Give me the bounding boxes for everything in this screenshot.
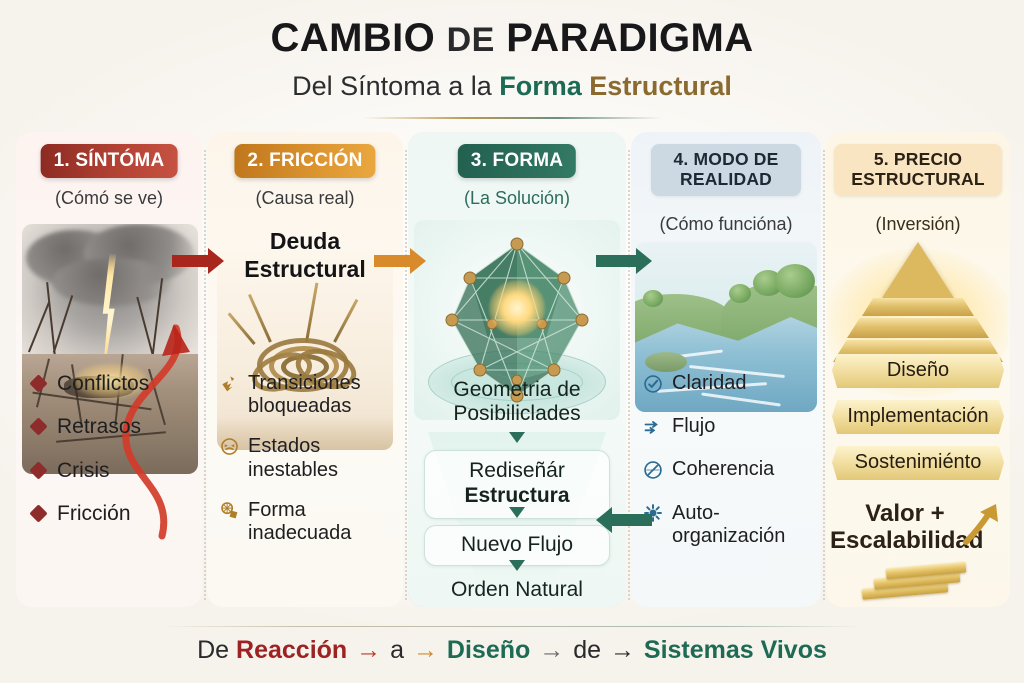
list-item-label: Fricción [57, 502, 131, 526]
river-rock [645, 352, 687, 372]
list-item[interactable]: Crisis [28, 459, 194, 483]
badge-forma[interactable]: 3. FORMA [458, 144, 576, 178]
list-friccion: Transiciones bloqueadas Estados inestabl… [219, 372, 395, 562]
column-sintoma: 1. SÍNTÓMA (Cómó se ve) Conflictos Retra… [16, 132, 202, 607]
list-item-label: Claridad [672, 372, 746, 395]
list-item[interactable]: Auto-organización [643, 502, 813, 548]
subtitle-precio-estructural: (Inversión) [875, 214, 960, 235]
circle-slash-icon [643, 458, 663, 481]
title-part-paradigma: PARADIGMA [506, 16, 753, 60]
chevron-down-icon [509, 507, 525, 518]
subtitle-friccion: (Causa real) [255, 188, 354, 209]
footer-arrow-4: → [608, 636, 637, 664]
title-divider [362, 117, 662, 119]
growth-arrow-icon [960, 500, 1002, 546]
footer-divider [162, 626, 862, 627]
footer-word-de2: de [573, 636, 601, 664]
list-sintoma: Conflictos Retrasos Crisis Fricción [28, 372, 194, 545]
list-item-label: Estados inestables [248, 435, 395, 481]
arrow-forma-to-modo [596, 248, 652, 274]
list-item-label: Retrasos [57, 415, 141, 439]
footer-arrow-3: → [537, 636, 566, 664]
list-item-label: Flujo [672, 415, 715, 438]
subtitle-modo-realidad: (Cómo funcióna) [659, 214, 792, 235]
footer-word-de: De [197, 636, 229, 664]
footer-word-sistemas-vivos: Sistemas Vivos [644, 636, 827, 664]
subtitle-estructural: Estructural [589, 71, 732, 101]
page-title: CAMBIO DE PARADIGMA [0, 18, 1024, 58]
column-friccion: 2. FRICCIÓN (Causa real) Deuda Estructur… [207, 132, 403, 607]
list-item[interactable]: Fricción [28, 502, 194, 526]
list-item[interactable]: Estados inestables [219, 435, 395, 481]
badge-sintoma[interactable]: 1. SÍNTÓMA [41, 144, 178, 178]
redisenar-line-1: Rediseñár [429, 459, 605, 484]
list-item-label: Forma inadecuada [248, 499, 395, 545]
tree-icon [643, 290, 663, 307]
pyramid-apex [882, 242, 954, 298]
list-item-label: Auto-organización [672, 502, 813, 548]
footer-flow-statement: De Reacción → a → Diseño → de → Sistemas… [0, 636, 1024, 665]
band-diseno[interactable]: Diseño [832, 354, 1004, 388]
arrow-modo-to-forma [596, 507, 652, 533]
redisenar-line-2: Estructura [464, 484, 569, 507]
column-separator-1 [204, 150, 206, 600]
center-glow [489, 280, 545, 336]
gold-bars [858, 563, 978, 605]
arrow-sintoma-to-friccion [172, 248, 224, 274]
wrong-shape-icon [219, 499, 239, 522]
footer-word-a: a [390, 636, 404, 664]
subtitle-prefix: Del Síntoma a la [292, 71, 499, 101]
badge-friccion[interactable]: 2. FRICCIÓN [234, 144, 375, 178]
diamond-bullet-icon [28, 372, 48, 395]
page-subtitle: Del Síntoma a la Forma Estructural [0, 71, 1024, 102]
list-item[interactable]: Flujo [643, 415, 813, 438]
column-forma: 3. FORMA (La Solución) Geometria de Posi… [408, 132, 626, 607]
title-part-de: DE [447, 21, 495, 59]
band-implementacion[interactable]: Implementación [832, 400, 1004, 434]
stack-label-orden-natural: Orden Natural [414, 578, 620, 602]
unstable-state-icon [219, 435, 239, 458]
tree-icon [729, 284, 751, 303]
valor-escalabilidad-label: Valor + Escalabilidad [830, 500, 980, 555]
header: CAMBIO DE PARADIGMA Del Síntoma a la For… [0, 18, 1024, 102]
chevron-down-icon [509, 432, 525, 443]
column-separator-2 [405, 150, 407, 600]
pyramid-tier [862, 298, 974, 316]
footer-arrow-1: → [354, 636, 383, 664]
arrow-friccion-to-forma [374, 248, 426, 274]
footer-word-reaccion: Reacción [236, 636, 347, 664]
badge-precio-estructural[interactable]: 5. PRECIO ESTRUCTURAL [834, 144, 1002, 196]
column-separator-4 [823, 150, 825, 600]
footer-arrow-2: → [411, 636, 440, 664]
column-modo-realidad: 4. MODO DE REALIDAD (Cómo funcióna) Clar… [631, 132, 821, 607]
flow-arrows-icon [643, 415, 663, 438]
subtitle-sintoma: (Cómó se ve) [55, 188, 163, 209]
valor-line-1: Valor + [830, 500, 980, 527]
check-circle-icon [643, 372, 663, 395]
subtitle-forma: (La Solución) [464, 188, 570, 209]
infographic-canvas: CAMBIO DE PARADIGMA Del Síntoma a la For… [0, 0, 1024, 683]
list-item[interactable]: Transiciones bloqueadas [219, 372, 395, 418]
list-item-label: Coherencia [672, 458, 774, 481]
list-item-label: Transiciones bloqueadas [248, 372, 395, 418]
column-precio-estructural: 5. PRECIO ESTRUCTURAL (Inversión) Diseño… [826, 132, 1010, 607]
valor-line-2: Escalabilidad [830, 527, 980, 554]
tree-icon [775, 264, 815, 298]
list-item[interactable]: Coherencia [643, 458, 813, 481]
list-item-label: Conflictos [57, 372, 149, 396]
diamond-bullet-icon [28, 415, 48, 438]
list-modo-realidad: Claridad Flujo [643, 372, 813, 568]
list-item-label: Crisis [57, 459, 110, 483]
pyramid-tier [847, 318, 989, 338]
list-item[interactable]: Claridad [643, 372, 813, 395]
diamond-bullet-icon [28, 502, 48, 525]
band-sostenimiento[interactable]: Sostenimiénto [832, 446, 1004, 480]
footer-word-diseno: Diseño [447, 636, 530, 664]
badge-modo-realidad[interactable]: 4. MODO DE REALIDAD [651, 144, 801, 196]
title-part-cambio: CAMBIO [271, 16, 436, 60]
list-item[interactable]: Conflictos [28, 372, 194, 396]
list-item[interactable]: Forma inadecuada [219, 499, 395, 545]
diamond-bullet-icon [28, 459, 48, 482]
list-item[interactable]: Retrasos [28, 415, 194, 439]
chevron-down-icon [509, 560, 525, 571]
subtitle-forma: Forma [499, 71, 582, 101]
stack-label-geometria: Geometria de Posibiliclades [414, 378, 620, 426]
broken-link-icon [219, 372, 239, 395]
